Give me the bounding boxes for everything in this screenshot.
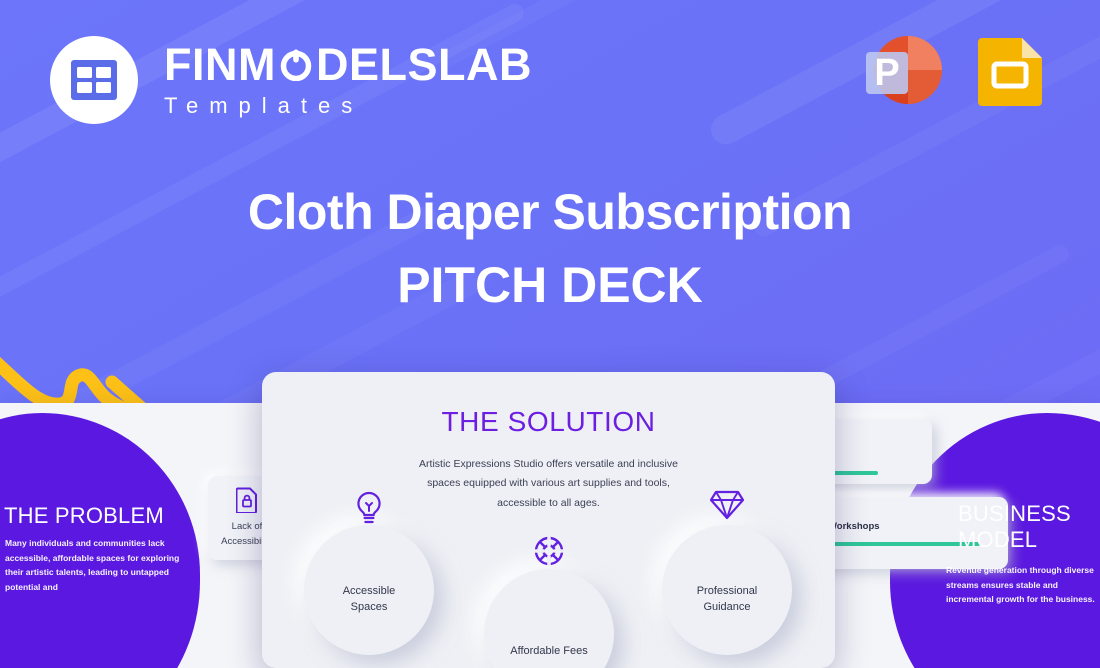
pitch-deck-promo-banner: FINM DELSLAB Templates P [0, 0, 1100, 668]
document-lock-icon [236, 487, 258, 513]
business-heading-line-1: BUSINESS [958, 501, 1071, 526]
brand-name: FINM DELSLAB [164, 42, 532, 87]
problem-heading: THE PROBLEM [4, 503, 194, 529]
business-body: Revenue generation through diverse strea… [946, 563, 1096, 607]
hero-title-line-1: Cloth Diaper Subscription [0, 186, 1100, 239]
solution-bubble-accessible-spaces[interactable]: Accessible Spaces [304, 525, 434, 655]
bubble-label-1: Accessible Spaces [343, 584, 396, 615]
business-stat-label: Workshops [828, 521, 880, 532]
svg-text:P: P [874, 52, 899, 94]
hero-title-line-2: PITCH DECK [0, 259, 1100, 312]
lightbulb-icon [354, 491, 384, 532]
problem-card-label-line-1: Lack of [232, 521, 263, 532]
hero-title: Cloth Diaper Subscription PITCH DECK [0, 186, 1100, 311]
brand-name-part-2: DELSLAB [316, 42, 532, 87]
powerpoint-icon: P [852, 22, 948, 118]
google-slides-badge[interactable] [962, 22, 1058, 118]
format-badges: P [852, 22, 1058, 118]
bubble-label-3: Professional Guidance [697, 584, 758, 615]
business-heading-line-2: MODEL [958, 527, 1037, 552]
lifebuoy-icon [533, 535, 565, 572]
solution-bubble-affordable-fees[interactable]: Affordable Fees [484, 569, 614, 668]
brand-logo[interactable]: FINM DELSLAB Templates [50, 36, 532, 124]
diamond-icon [710, 489, 744, 526]
solution-bubble-professional-guidance[interactable]: Professional Guidance [662, 525, 792, 655]
brand-name-part-1: FINM [164, 42, 276, 87]
slide-the-solution[interactable]: THE SOLUTION Artistic Expressions Studio… [262, 372, 835, 668]
solution-description: Artistic Expressions Studio offers versa… [262, 455, 835, 513]
brand-tagline: Templates [164, 93, 532, 119]
solution-description-line-2: spaces equipped with various art supplie… [427, 477, 670, 489]
business-heading: BUSINESS MODEL [958, 501, 1088, 554]
solution-description-line-1: Artistic Expressions Studio offers versa… [419, 458, 678, 470]
power-o-icon [277, 45, 315, 83]
logo-wordmark: FINM DELSLAB Templates [164, 42, 532, 119]
solution-heading: THE SOLUTION [262, 406, 835, 438]
logo-mark [50, 36, 138, 124]
solution-bubbles: Accessible Spaces Affordable Fees [262, 523, 835, 668]
solution-description-line-3: accessible to all ages. [497, 497, 600, 509]
bubble-label-2: Affordable Fees [510, 644, 587, 659]
google-slides-icon [962, 22, 1058, 118]
powerpoint-badge[interactable]: P [852, 22, 948, 118]
problem-body: Many individuals and communities lack ac… [5, 536, 183, 594]
grid-table-icon [70, 59, 118, 101]
slide-the-problem[interactable]: Lack of Accessibility THE PROBLEM Many i… [0, 403, 300, 668]
slide-business-model[interactable]: Workshops BUSINESS MODEL Revenue generat… [800, 403, 1100, 668]
